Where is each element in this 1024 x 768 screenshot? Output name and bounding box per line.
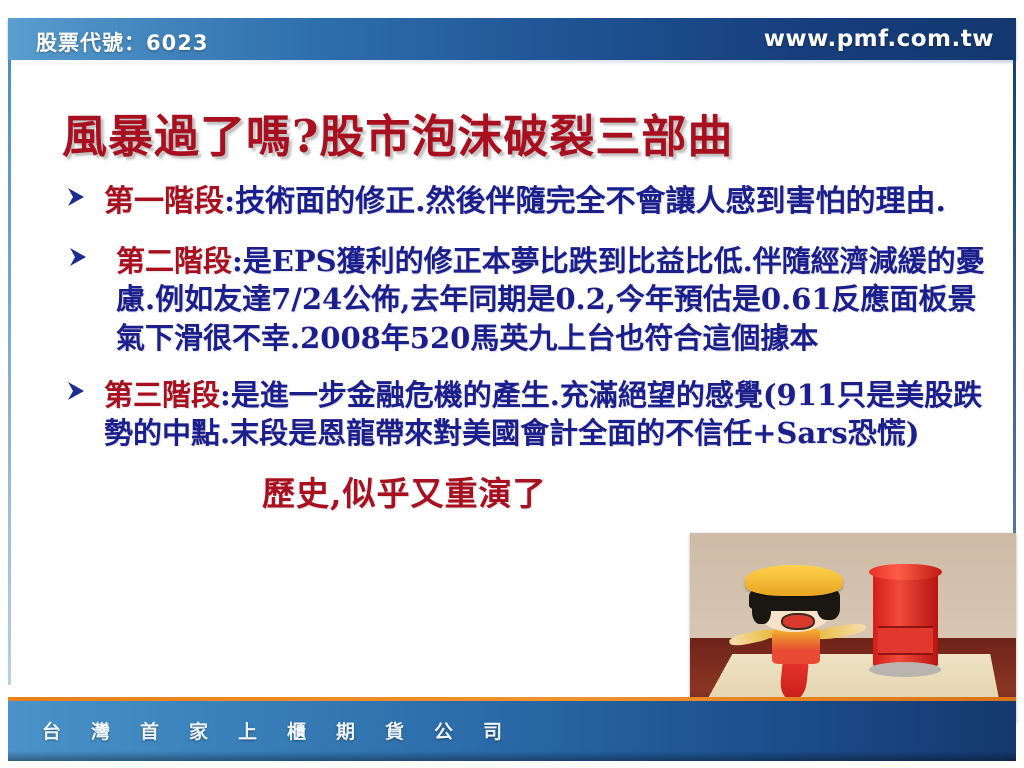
- bullet-list: 第一階段:技術面的修正.然後伴隨完全不會讓人感到害怕的理由. 第二階段:是EPS…: [62, 182, 992, 515]
- photo-red-mailbox: [873, 571, 938, 666]
- arrow-right-icon: [66, 244, 94, 276]
- stage-body: :是EPS獲利的修正本夢比跌到比益比低.伴隨經濟減緩的憂慮.例如友達7/24公佈…: [116, 244, 985, 355]
- slide-header-bar: 股票代號：6023 www.pmf.com.tw: [8, 18, 1016, 60]
- list-item: 第一階段:技術面的修正.然後伴隨完全不會讓人感到害怕的理由.: [62, 182, 992, 222]
- website-url-label: www.pmf.com.tw: [764, 26, 994, 52]
- left-accent-rail: [8, 60, 11, 685]
- arrow-right-icon: [64, 378, 92, 410]
- presentation-slide: 股票代號：6023 www.pmf.com.tw 風暴過了嗎?股市泡沫破裂三部曲…: [0, 0, 1024, 768]
- bullet-text: 第三階段:是進一步金融危機的產生.充滿絕望的感覺(911只是美股跌勢的中點.末段…: [104, 376, 992, 453]
- photo-figurine-mouth: [781, 613, 814, 630]
- photo-figurine-body: [772, 626, 821, 664]
- closing-statement: 歷史,似乎又重演了: [62, 467, 992, 515]
- photo-figurine-yellow-hat: [745, 565, 843, 595]
- stage-label: 第三階段: [104, 378, 220, 412]
- arrow-right-icon: [64, 184, 92, 216]
- stage-body: :技術面的修正.然後伴隨完全不會讓人感到害怕的理由.: [224, 184, 946, 219]
- photo-figurine-hair-left: [752, 594, 772, 624]
- photo-wall-background: [690, 533, 1016, 638]
- stock-code-label: 股票代號：6023: [36, 27, 208, 57]
- page-title: 風暴過了嗎?股市泡沫破裂三部曲: [62, 100, 962, 165]
- figurine-photo: [690, 533, 1016, 723]
- stage-label: 第二階段: [116, 244, 232, 278]
- photo-figurine-hair-right: [817, 592, 840, 621]
- list-item: 第三階段:是進一步金融危機的產生.充滿絕望的感覺(911只是美股跌勢的中點.末段…: [62, 376, 992, 453]
- bullet-text: 第一階段:技術面的修正.然後伴隨完全不會讓人感到害怕的理由.: [104, 182, 992, 222]
- stage-body: :是進一步金融危機的產生.充滿絕望的感覺(911只是美股跌勢的中點.末段是恩龍帶…: [104, 378, 982, 451]
- slide-footer-bar: 台灣首家上櫃期貨公司: [8, 701, 1016, 761]
- list-item: 第二階段:是EPS獲利的修正本夢比跌到比益比低.伴隨經濟減緩的憂慮.例如友達7/…: [62, 242, 992, 358]
- bullet-text: 第二階段:是EPS獲利的修正本夢比跌到比益比低.伴隨經濟減緩的憂慮.例如友達7/…: [116, 242, 992, 358]
- footer-tagline: 台灣首家上櫃期貨公司: [42, 717, 532, 744]
- stage-label: 第一階段: [104, 184, 224, 219]
